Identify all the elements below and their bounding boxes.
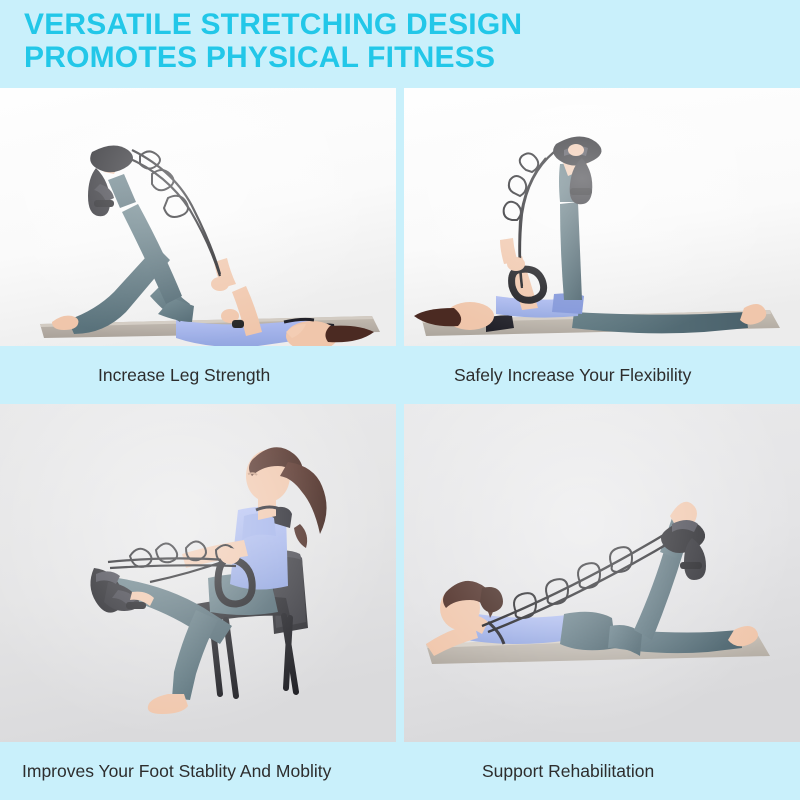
panel-4-caption: Support Rehabilitation (404, 742, 800, 800)
panel-4-photo (404, 404, 800, 742)
panel-1-caption: Increase Leg Strength (0, 346, 396, 404)
panel-3-image (0, 404, 396, 742)
panel-2-photo (404, 88, 800, 346)
header-band: VERSATILE STRETCHING DESIGN PROMOTES PHY… (0, 0, 800, 88)
panel-1-image (0, 88, 396, 346)
panel-4-image (404, 404, 800, 742)
panel-2-caption-text: Safely Increase Your Flexibility (404, 365, 691, 386)
title-line-2: PROMOTES PHYSICAL FITNESS (24, 41, 784, 74)
infographic-sheet: VERSATILE STRETCHING DESIGN PROMOTES PHY… (0, 0, 800, 800)
page-title: VERSATILE STRETCHING DESIGN PROMOTES PHY… (24, 8, 784, 74)
panel-1-photo (0, 88, 396, 346)
panel-1-caption-text: Increase Leg Strength (0, 365, 270, 386)
panel-3-photo (0, 404, 396, 742)
title-line-1: VERSATILE STRETCHING DESIGN (24, 8, 522, 41)
panel-1-vignette (0, 88, 396, 346)
panel-2-image (404, 88, 800, 346)
panel-3-caption-text: Improves Your Foot Stablity And Moblity (0, 761, 331, 782)
panel-2-caption: Safely Increase Your Flexibility (404, 346, 800, 404)
panel-3-caption: Improves Your Foot Stablity And Moblity (0, 742, 396, 800)
panel-4-vignette (404, 404, 800, 742)
panel-3-vignette (0, 404, 396, 742)
panel-2-vignette (404, 88, 800, 346)
panel-4-caption-text: Support Rehabilitation (404, 761, 654, 782)
